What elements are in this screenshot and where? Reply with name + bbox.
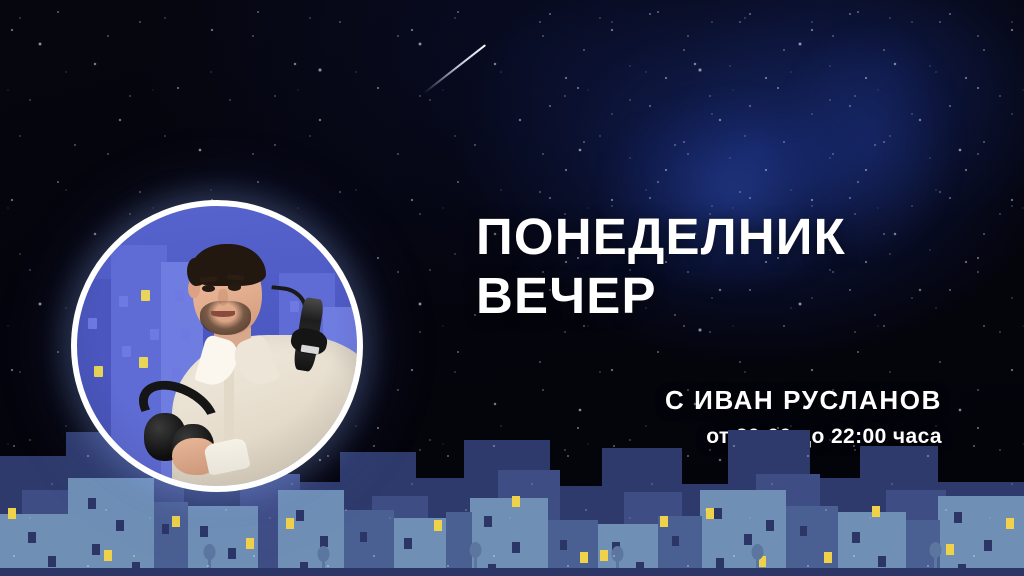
city-base-strip — [0, 568, 1024, 576]
page-title: ПОНЕДЕЛНИК ВЕЧЕР — [476, 207, 956, 325]
host-figure — [77, 206, 357, 486]
eye-right — [228, 283, 241, 290]
headline-line-2: ВЕЧЕР — [476, 266, 956, 325]
portrait-photo — [77, 206, 357, 486]
beard — [200, 301, 250, 335]
avatar — [71, 200, 363, 492]
eye-left — [202, 285, 215, 292]
headline-line-1: ПОНЕДЕЛНИК — [476, 208, 846, 265]
promo-poster: ПОНЕДЕЛНИК ВЕЧЕР С ИВАН РУСЛАНОВ от 20:0… — [0, 0, 1024, 576]
